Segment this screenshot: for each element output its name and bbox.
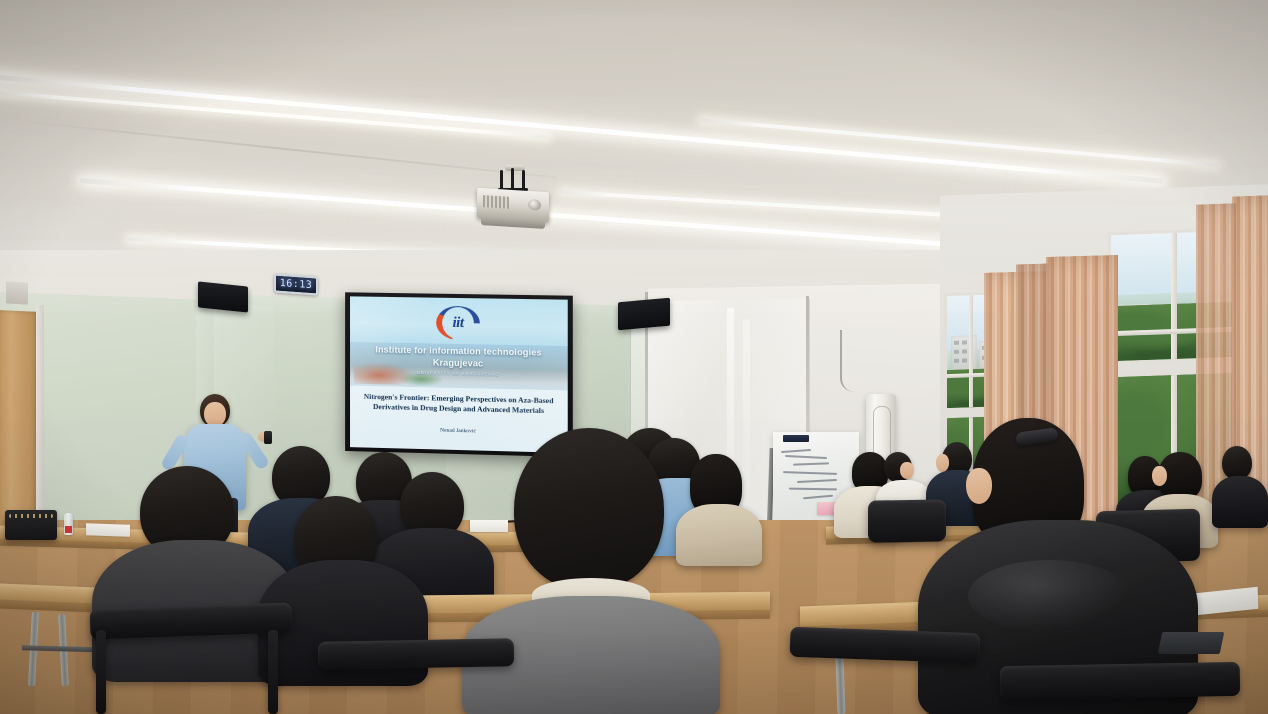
water-bottle [64, 513, 73, 535]
chair[interactable] [868, 499, 946, 542]
presentation-clicker[interactable] [264, 431, 272, 444]
ceiling-projector [477, 188, 549, 222]
projector-lens-icon [528, 199, 541, 211]
chair-leg [96, 630, 106, 714]
projector-vent [483, 195, 509, 209]
wall-speaker-right [618, 298, 670, 331]
chair[interactable] [1000, 662, 1241, 700]
chair-leg [268, 630, 278, 714]
clock-time: 16:13 [280, 278, 313, 291]
slide-title: Nitrogen's Frontier: Emerging Perspectiv… [358, 392, 560, 416]
iit-logo: iit [436, 306, 480, 341]
flipchart-clip [783, 435, 809, 442]
slide-author: Nenad Janković [350, 425, 568, 436]
projection-screen: iit Institute for information technologi… [350, 296, 568, 453]
documents [86, 523, 130, 537]
laptop[interactable] [1158, 632, 1225, 654]
chair[interactable] [318, 638, 514, 669]
lecture-hall-photo: 16:13 [0, 0, 1268, 714]
documents [470, 520, 508, 532]
logo-text: iit [436, 306, 480, 341]
wall-sign [6, 281, 28, 304]
slide-org-line2: Kragujevac [433, 358, 483, 369]
person-head [514, 428, 664, 590]
wall-digital-clock: 16:13 [274, 273, 318, 295]
projection-screen-frame: iit Institute for information technologi… [345, 292, 573, 457]
slide-org-name: Institute for information technologies K… [350, 343, 568, 371]
slide-org-line1: Institute for information technologies [375, 344, 541, 357]
studded-handbag [5, 510, 57, 540]
wall-cable [840, 330, 858, 392]
wall-speaker-left [198, 281, 248, 312]
